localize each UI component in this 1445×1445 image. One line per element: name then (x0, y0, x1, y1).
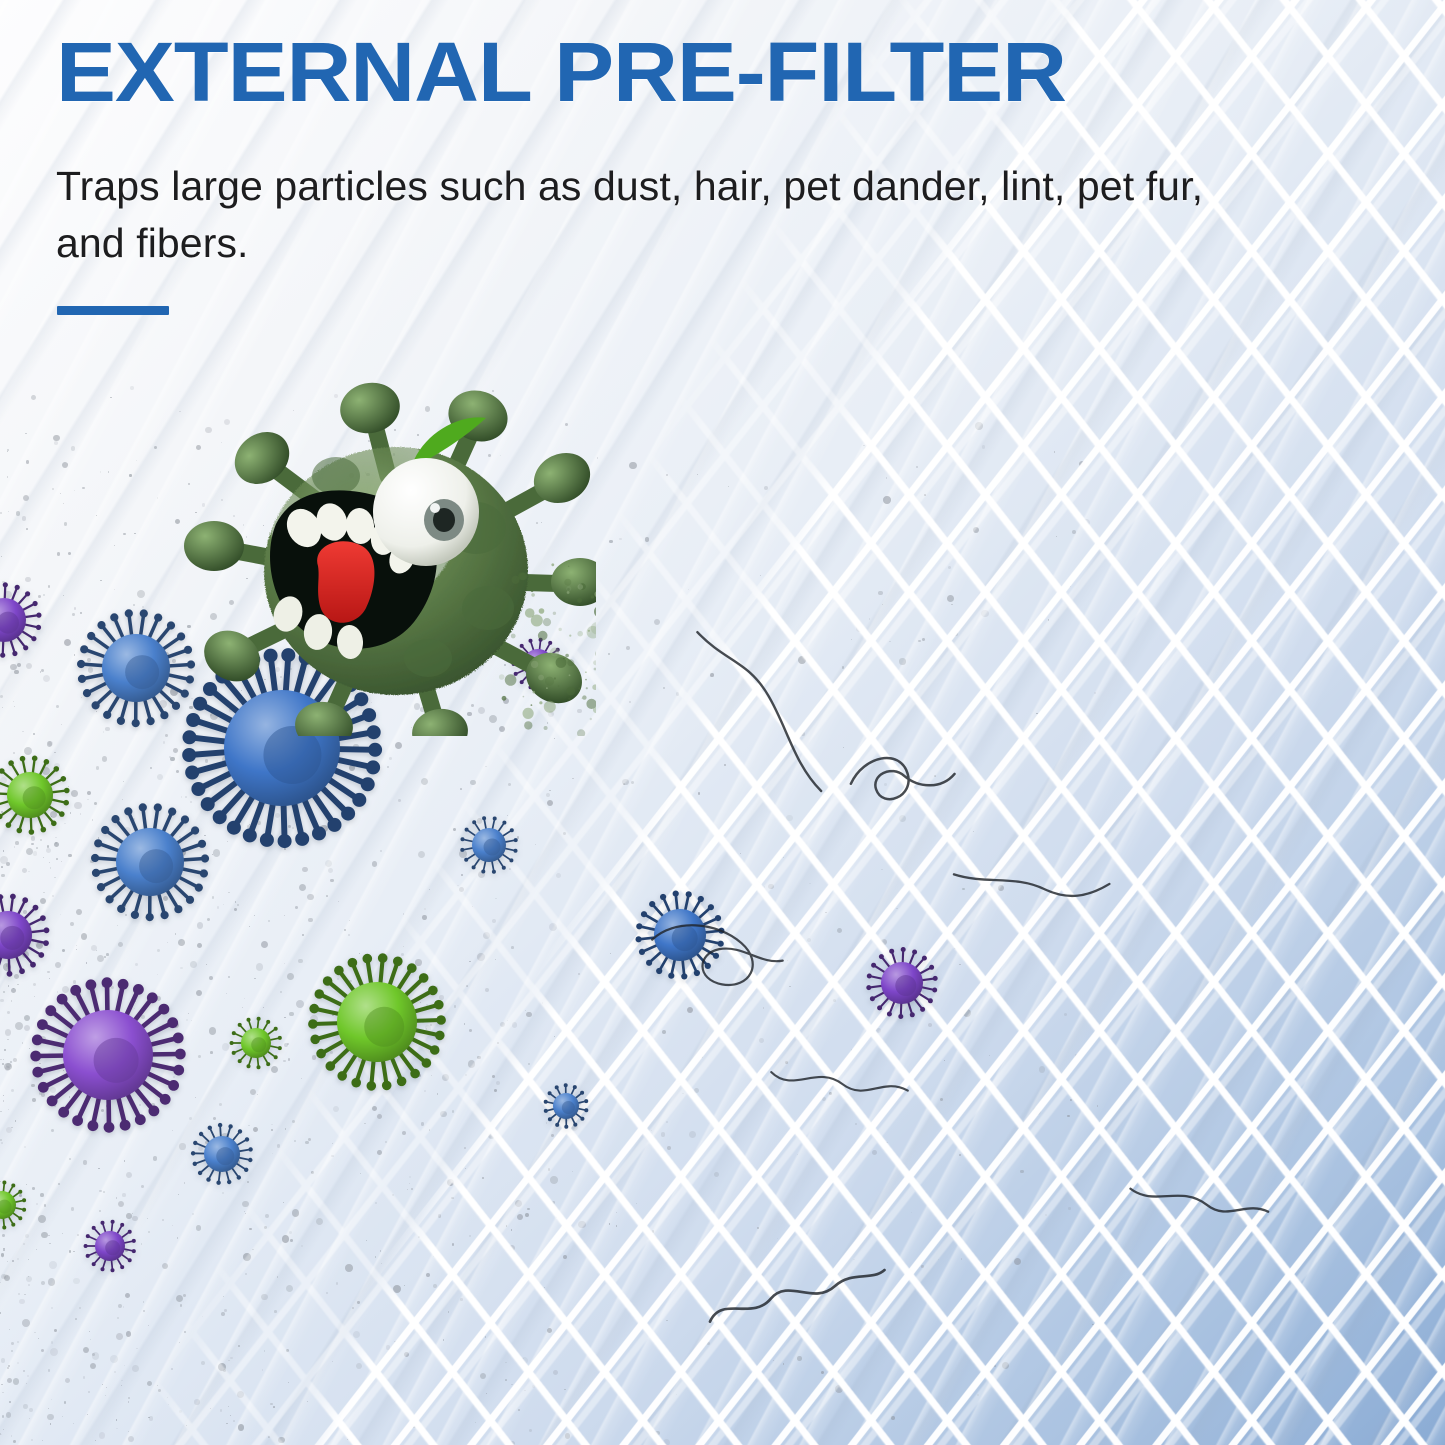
virus-purple-large (20, 967, 196, 1148)
angry-green-germ-mascot (176, 356, 596, 736)
virus-purple-tiny (75, 1211, 145, 1286)
hair-strand-lower (686, 1221, 944, 1414)
virus-green-edge (0, 1172, 35, 1243)
virus-blue-mid-2 (81, 793, 219, 936)
accent-divider (57, 306, 169, 315)
virus-green-mid (0, 746, 79, 849)
hair-strand-mid (939, 829, 1179, 982)
hair-strand-right (1117, 1159, 1348, 1296)
hair-strand-wave (757, 1035, 992, 1180)
page-title: EXTERNAL PRE-FILTER (56, 30, 1066, 114)
virus-blue-small (451, 807, 527, 888)
page-subtitle: Traps large particles such as dust, hair… (56, 158, 1266, 271)
virus-purple-small (0, 884, 59, 991)
virus-green-small (221, 1008, 291, 1083)
virus-purple-mesh (857, 938, 947, 1033)
virus-blue-tiny (535, 1075, 597, 1142)
virus-blue-mesh (626, 881, 734, 994)
pre-filter-promo-banner: EXTERNAL PRE-FILTER Traps large particle… (0, 0, 1445, 1445)
hair-strand-curl (831, 706, 1078, 874)
virus-purple-edge (0, 573, 51, 672)
virus-green-large (298, 943, 456, 1106)
hair-strand-upper (645, 602, 909, 814)
